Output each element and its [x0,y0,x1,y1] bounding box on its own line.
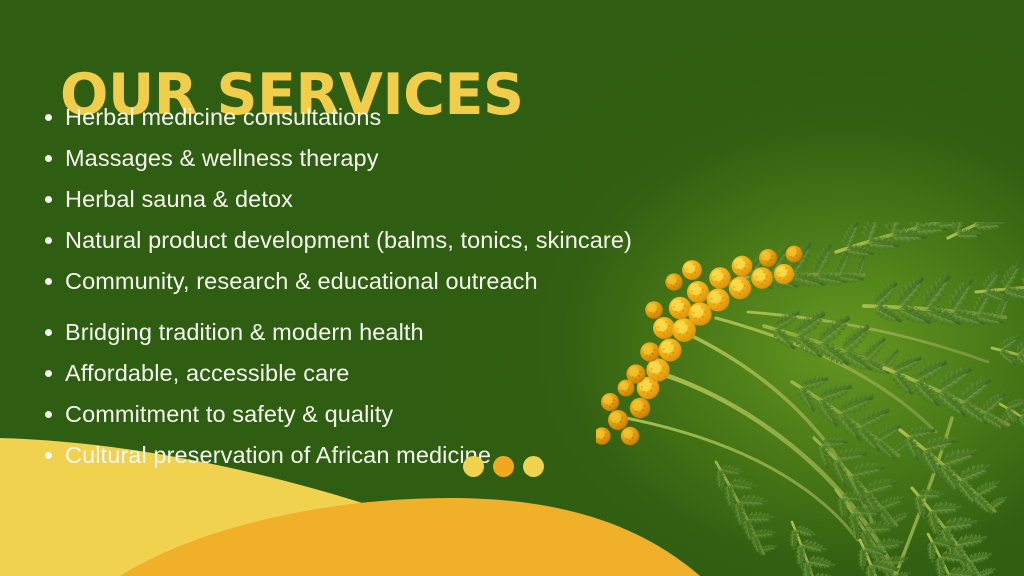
decor-dot-3-icon [523,456,544,477]
decor-dot-2-icon [493,456,514,477]
list-item-label: Massages & wellness therapy [65,145,379,171]
list-item: Bridging tradition & modern health [36,315,756,350]
list-item-label: Herbal sauna & detox [65,186,293,212]
list-item-label: Commitment to safety & quality [65,401,393,427]
list-item-label: Community, research & educational outrea… [65,268,538,294]
decor-dot-1-icon [463,456,484,477]
list-item: Commitment to safety & quality [36,397,756,432]
list-item: Cultural preservation of African medicin… [36,438,756,473]
list-item: Affordable, accessible care [36,356,756,391]
wave-dark [120,498,700,576]
list-item: Natural product development (balms, toni… [36,223,756,258]
values-list: Bridging tradition & modern health Affor… [36,315,756,473]
list-item-label: Herbal medicine consultations [65,104,381,130]
list-item-label: Affordable, accessible care [65,360,349,386]
list-item: Herbal sauna & detox [36,182,756,217]
list-item-label: Bridging tradition & modern health [65,319,424,345]
list-item-label: Natural product development (balms, toni… [65,227,632,253]
list-item: Massages & wellness therapy [36,141,756,176]
list-item: Herbal medicine consultations [36,100,756,135]
slide-canvas: OUR SERVICES Herbal medicine consultatio… [0,0,1024,576]
list-item: Community, research & educational outrea… [36,264,756,299]
dot-decoration [463,456,544,477]
services-list: Herbal medicine consultations Massages &… [36,100,756,299]
content-lists: Herbal medicine consultations Massages &… [36,100,756,479]
